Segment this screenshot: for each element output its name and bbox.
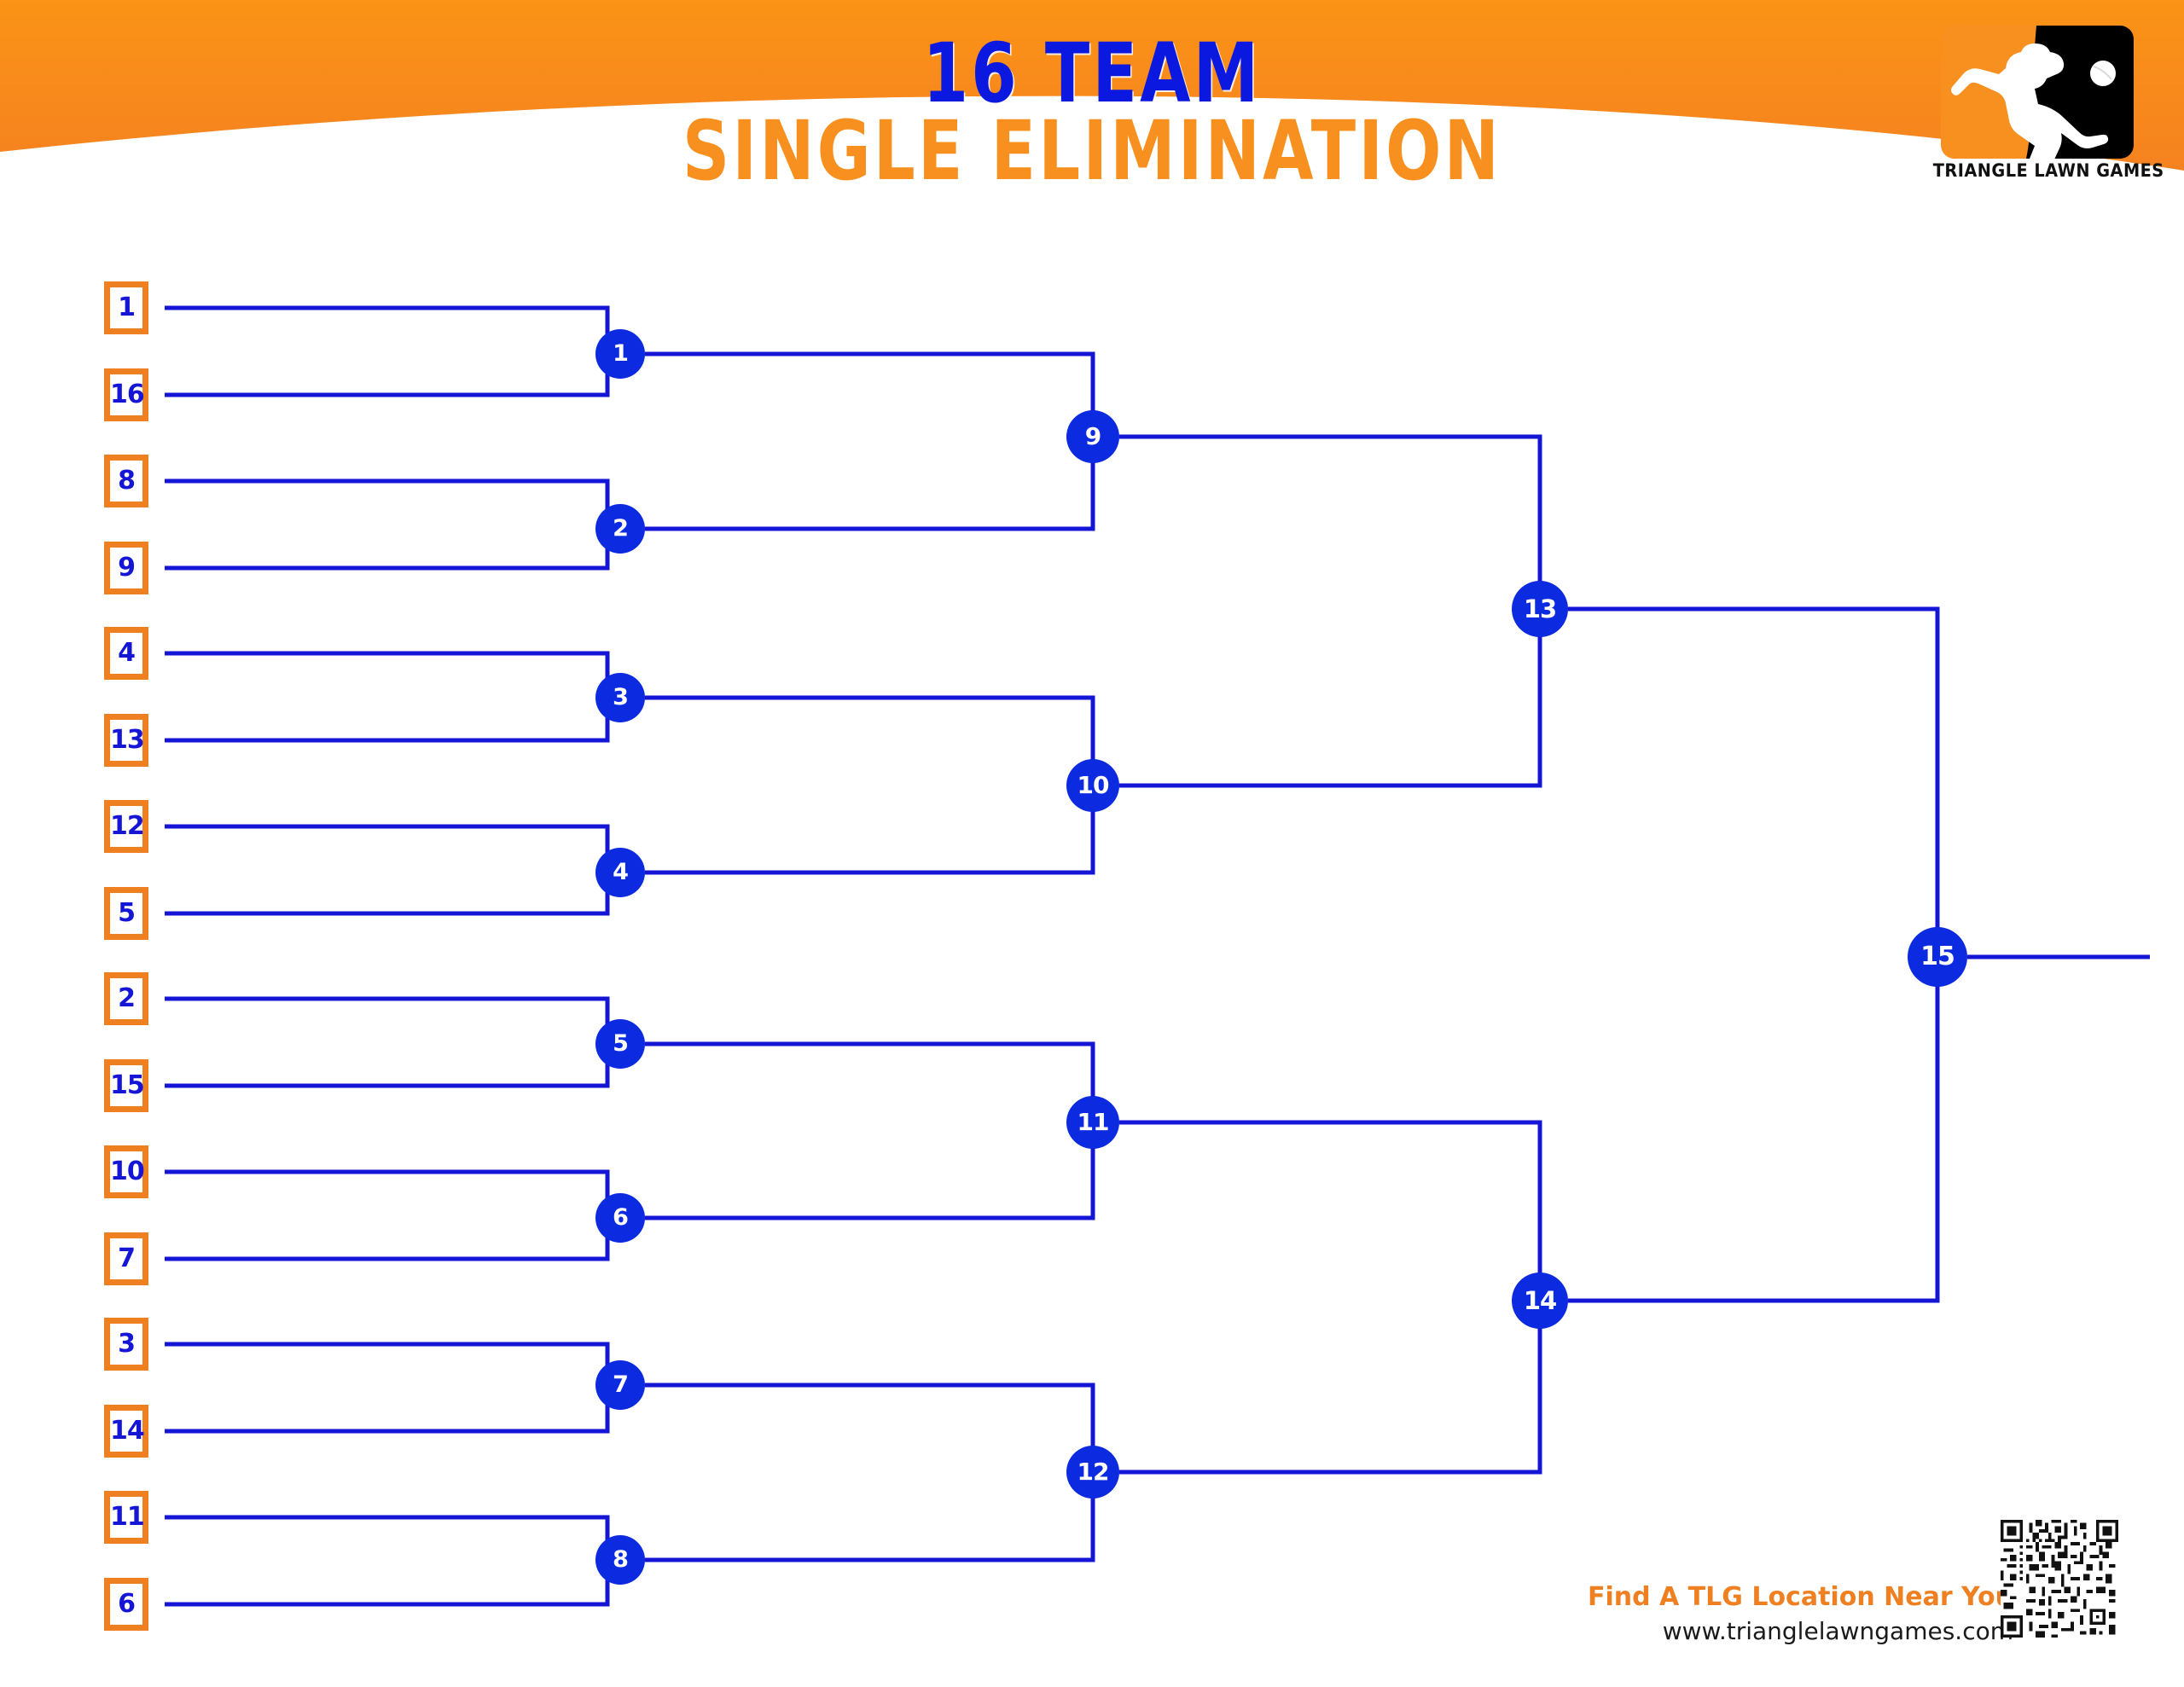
match-node[interactable]: 4 <box>595 848 645 897</box>
match-node[interactable]: 12 <box>1066 1446 1119 1499</box>
match-node[interactable]: 2 <box>595 504 645 554</box>
footer-url[interactable]: www.trianglelawngames.com <box>1570 1617 2013 1645</box>
match-node[interactable]: 14 <box>1512 1272 1568 1329</box>
footer: Find A TLG Location Near You www.triangl… <box>1570 1582 2013 1645</box>
match-node[interactable]: 10 <box>1066 759 1119 812</box>
title-line-2: SINGLE ELIMINATION <box>218 111 1966 191</box>
match-node[interactable]: 9 <box>1066 410 1119 463</box>
match-node[interactable]: 13 <box>1512 581 1568 637</box>
match-node[interactable]: 3 <box>595 673 645 722</box>
match-node[interactable]: 11 <box>1066 1096 1119 1149</box>
page-title: 16 TEAM SINGLE ELIMINATION <box>0 36 2184 191</box>
logo-wordmark: TRIANGLE LAWN GAMES <box>1933 160 2144 181</box>
footer-cta: Find A TLG Location Near You <box>1570 1582 2013 1612</box>
title-line-1: 16 TEAM <box>218 36 1966 111</box>
match-node[interactable]: 5 <box>595 1019 645 1069</box>
player-throwing-ball-icon <box>1924 24 2152 160</box>
bracket-page: 16 TEAM SINGLE ELIMINATION <box>0 0 2184 1687</box>
match-node[interactable]: 8 <box>595 1535 645 1585</box>
match-node[interactable]: 7 <box>595 1360 645 1410</box>
qr-code-icon[interactable] <box>1996 1520 2123 1638</box>
match-node-final[interactable]: 15 <box>1908 927 1967 987</box>
match-node[interactable]: 1 <box>595 329 645 379</box>
brand-logo: TRIANGLE LAWN GAMES <box>1924 24 2152 194</box>
bracket-lines <box>0 0 2184 1687</box>
match-node[interactable]: 6 <box>595 1193 645 1243</box>
